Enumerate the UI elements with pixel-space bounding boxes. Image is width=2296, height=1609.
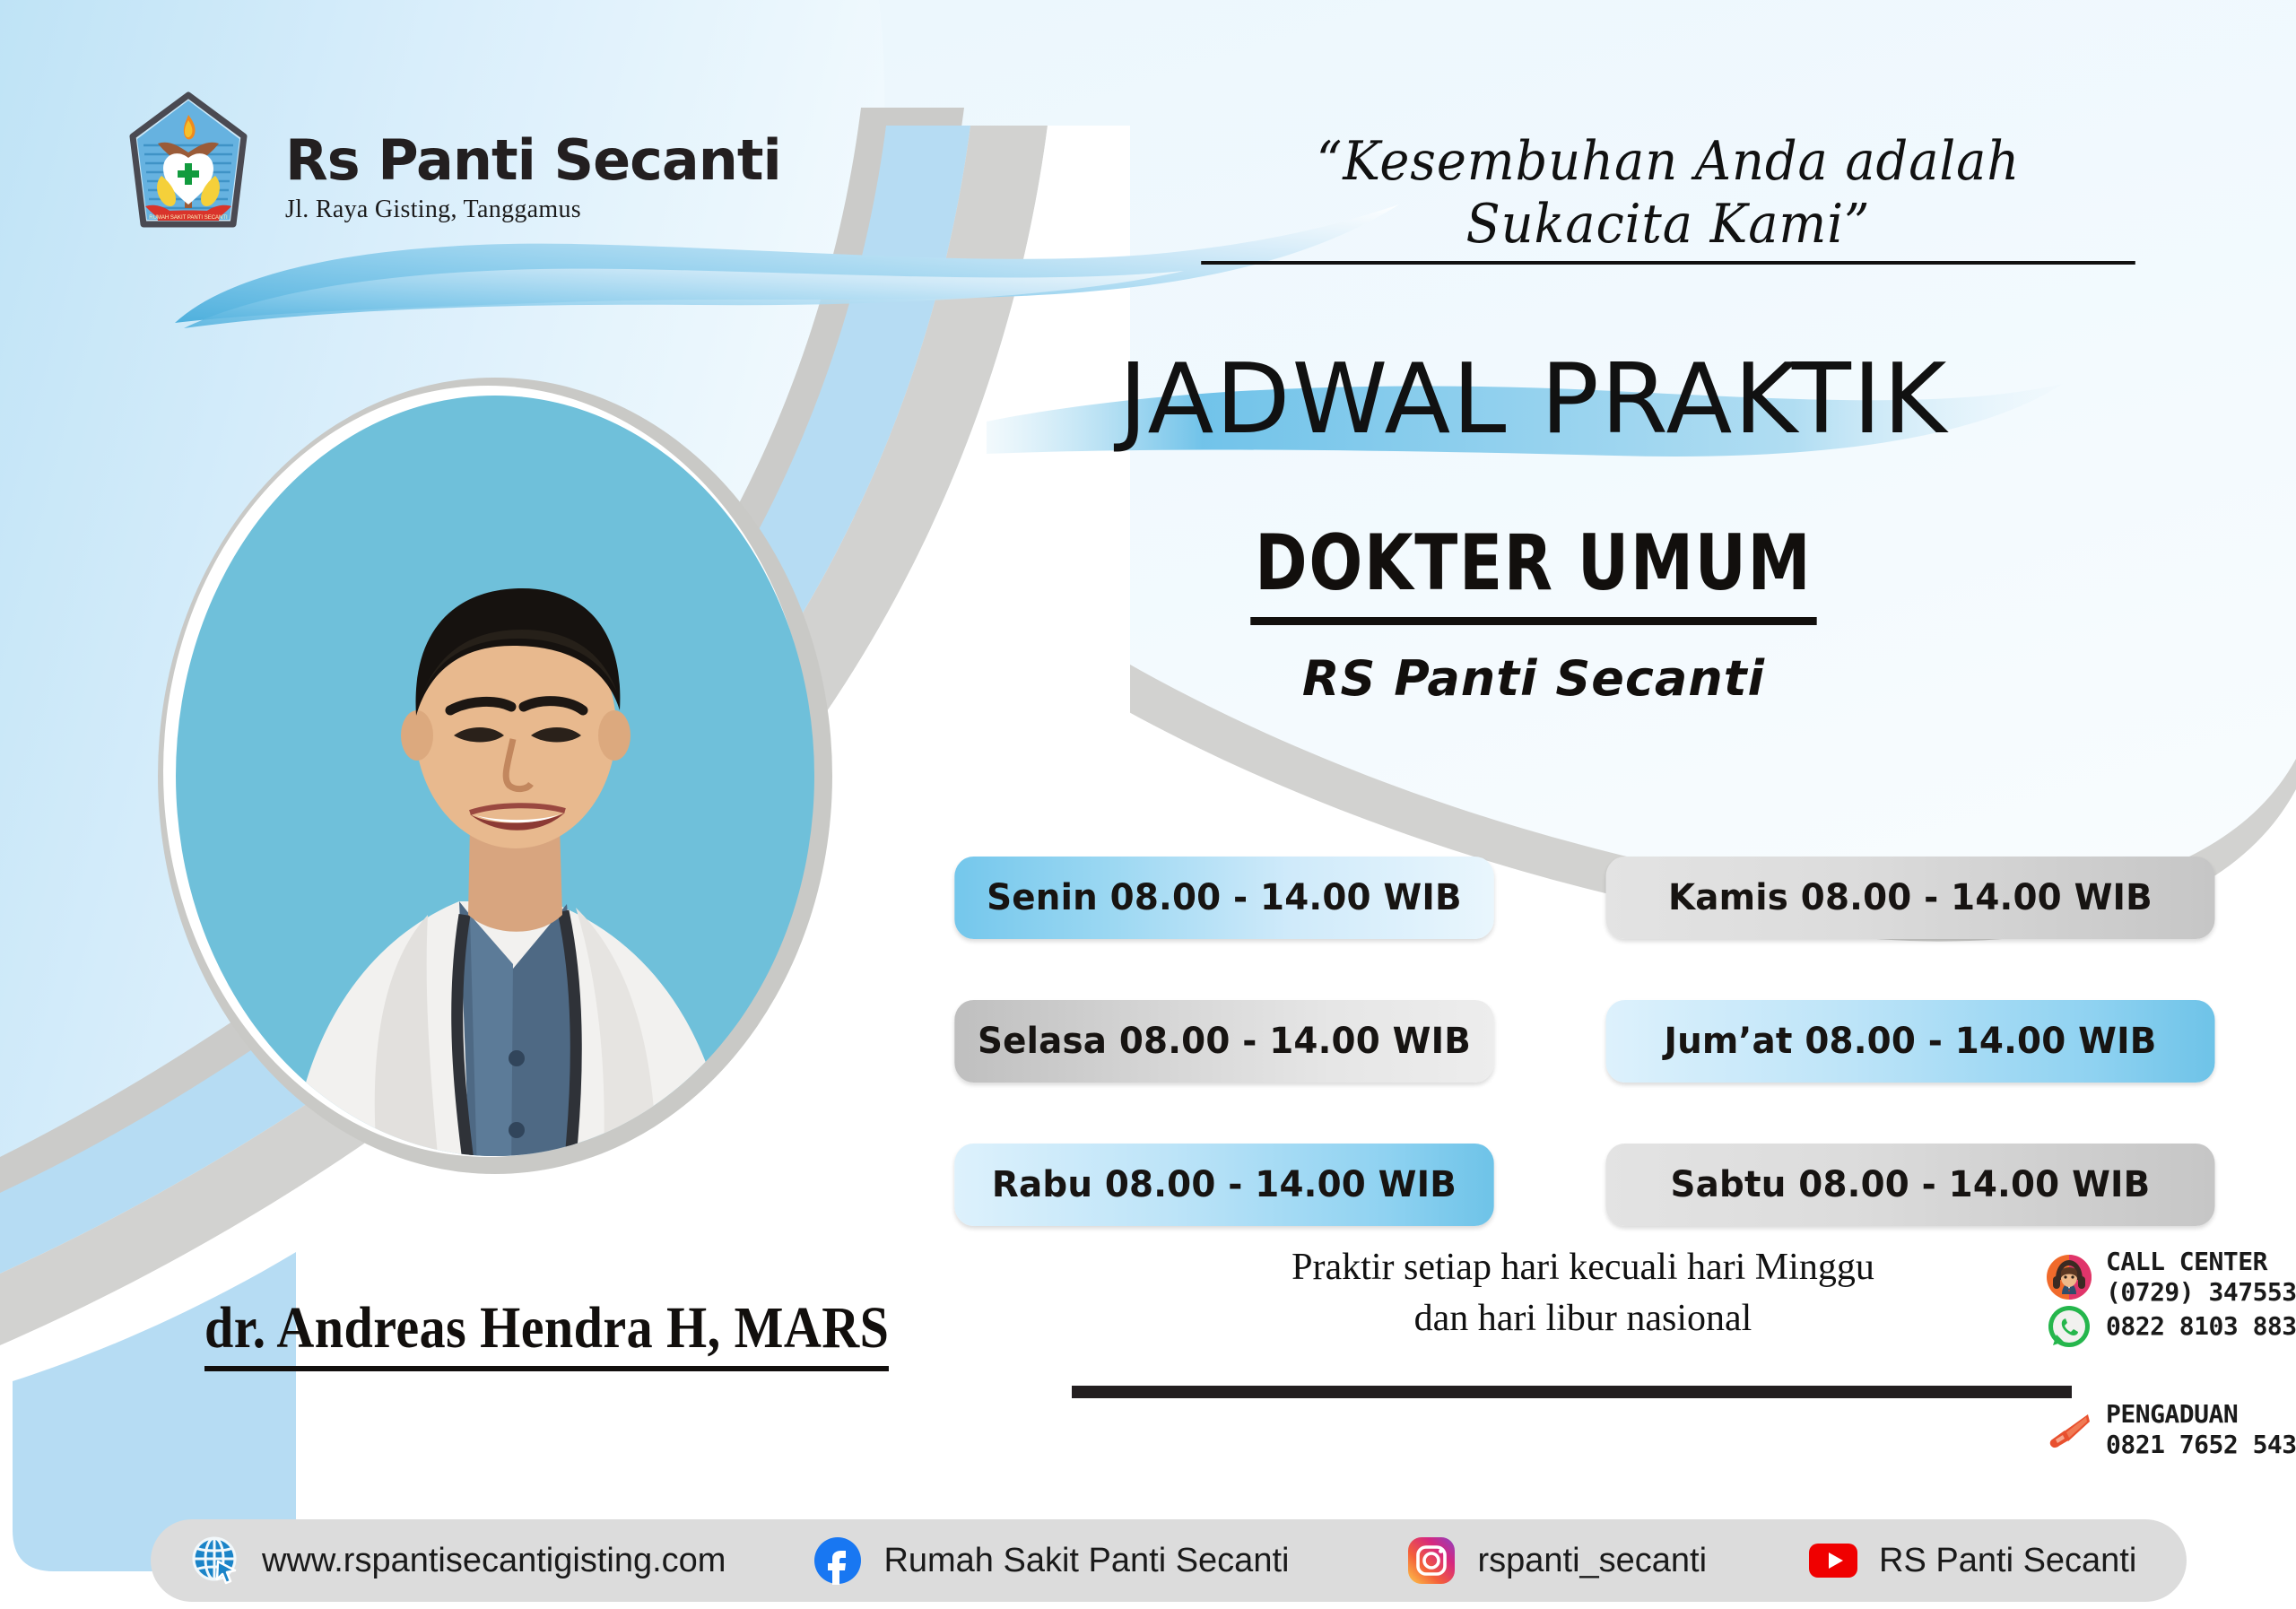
headset-operator-icon: [2045, 1253, 2093, 1301]
brand-name: Rs Panti Secanti: [285, 133, 781, 188]
schedule-pill-jumat[interactable]: Jum’at 08.00 - 14.00 WIB: [1606, 1000, 2215, 1083]
schedule-pill-senin[interactable]: Senin 08.00 - 14.00 WIB: [954, 857, 1493, 939]
tagline-text: “Kesembuhan Anda adalah Sukacita Kami”: [1201, 130, 2135, 265]
doctor-name: dr. Andreas Hendra H, MARS: [204, 1294, 982, 1371]
schedule-column-right: Kamis 08.00 - 14.00 WIB Jum’at 08.00 - 1…: [1596, 857, 2224, 1226]
call-center-row: CALL CENTER (0729) 347553: [2045, 1247, 2296, 1308]
subtitle-hospital: RS Panti Secanti: [987, 650, 2081, 707]
pengaduan-row: PENGADUAN 0821 7652 5438: [2045, 1399, 2296, 1460]
footer-bar: www.rspantisecantigisting.com Rumah Saki…: [151, 1519, 2187, 1602]
schedule-pill-kamis[interactable]: Kamis 08.00 - 14.00 WIB: [1606, 857, 2215, 939]
practice-note-line1: Praktir setiap hari kecuali hari Minggu: [1247, 1242, 1919, 1293]
schedule-column-left: Senin 08.00 - 14.00 WIB Selasa 08.00 - 1…: [946, 857, 1502, 1226]
footer-website[interactable]: www.rspantisecantigisting.com: [190, 1535, 726, 1587]
brand-block: Rs Panti Secanti Jl. Raya Gisting, Tangg…: [285, 133, 781, 224]
footer-youtube-label: RS Panti Secanti: [1879, 1542, 2136, 1580]
pengaduan-label: PENGADUAN: [2106, 1399, 2296, 1430]
contact-block: CALL CENTER (0729) 347553 0822 8103 8832…: [2045, 1247, 2296, 1461]
footer-youtube[interactable]: RS Panti Secanti: [1807, 1535, 2136, 1587]
whatsapp-icon: [2045, 1302, 2093, 1351]
practice-note-line2: dan hari libur nasional: [1247, 1293, 1919, 1344]
footer-website-label: www.rspantisecantigisting.com: [262, 1542, 726, 1580]
call-center-label: CALL CENTER: [2106, 1247, 2296, 1277]
brand-address: Jl. Raya Gisting, Tanggamus: [285, 196, 781, 224]
megaphone-icon: [2045, 1405, 2093, 1454]
call-center-text: CALL CENTER (0729) 347553: [2106, 1247, 2296, 1308]
schedule-pill-selasa[interactable]: Selasa 08.00 - 14.00 WIB: [954, 1000, 1493, 1083]
page-title: JADWAL PRAKTIK: [987, 344, 2081, 456]
whatsapp-row: 0822 8103 8832: [2045, 1302, 2296, 1351]
footer-facebook-label: Rumah Sakit Panti Secanti: [883, 1542, 1289, 1580]
youtube-icon: [1807, 1535, 1859, 1587]
practice-note: Praktir setiap hari kecuali hari Minggu …: [1247, 1242, 1919, 1344]
instagram-icon: [1405, 1535, 1457, 1587]
svg-text:RUMAH SAKIT PANTI SECANTI: RUMAH SAKIT PANTI SECANTI: [149, 215, 228, 221]
hospital-logo: RUMAH SAKIT PANTI SECANTI: [126, 90, 251, 233]
schedule-pill-rabu[interactable]: Rabu 08.00 - 14.00 WIB: [954, 1144, 1493, 1226]
doctor-name-text: dr. Andreas Hendra H, MARS: [204, 1294, 889, 1371]
poster-root: RUMAH SAKIT PANTI SECANTI Rs Panti Secan…: [0, 0, 2296, 1609]
divider-rule: [1072, 1386, 2072, 1398]
call-center-number: (0729) 347553: [2106, 1277, 2296, 1308]
subtitle-wrap: DOKTER UMUM: [987, 518, 2081, 625]
pengaduan-number: 0821 7652 5438: [2106, 1430, 2296, 1460]
facebook-icon: [812, 1535, 864, 1587]
subtitle-specialty: DOKTER UMUM: [1250, 518, 1816, 625]
footer-instagram[interactable]: rspanti_secanti: [1405, 1535, 1707, 1587]
globe-cursor-icon: [190, 1535, 242, 1587]
hospital-shield-logo-icon: RUMAH SAKIT PANTI SECANTI: [126, 90, 251, 233]
tagline: “Kesembuhan Anda adalah Sukacita Kami”: [1166, 130, 2170, 265]
whatsapp-number: 0822 8103 8832: [2106, 1311, 2296, 1342]
footer-facebook[interactable]: Rumah Sakit Panti Secanti: [812, 1535, 1289, 1587]
pengaduan-text: PENGADUAN 0821 7652 5438: [2106, 1399, 2296, 1460]
footer-instagram-label: rspanti_secanti: [1477, 1542, 1707, 1580]
schedule-pill-sabtu[interactable]: Sabtu 08.00 - 14.00 WIB: [1606, 1144, 2215, 1226]
